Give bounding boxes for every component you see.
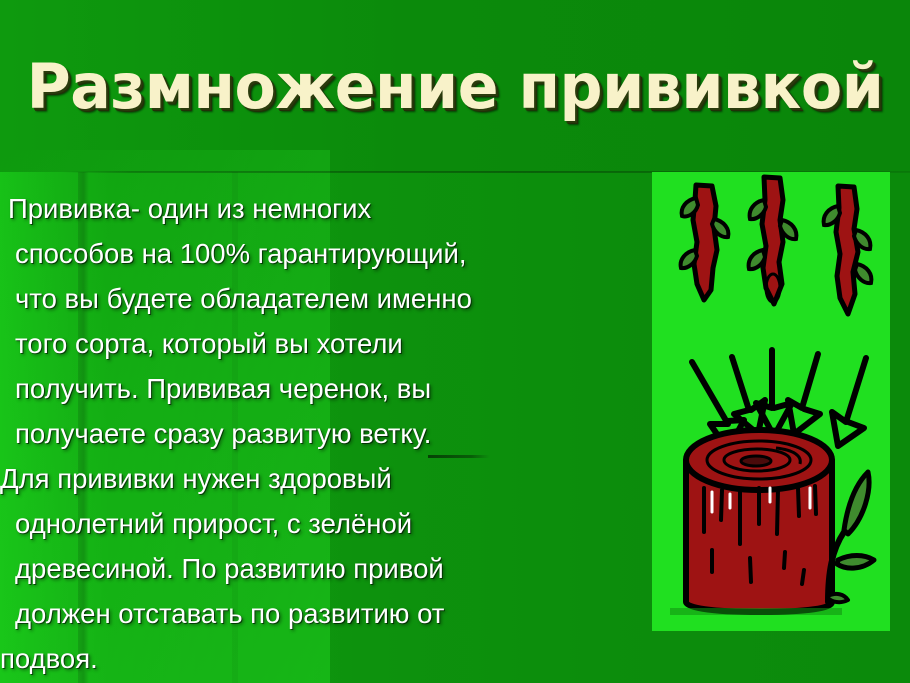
rootstock-stump <box>686 430 832 612</box>
body-line: древесиной. По развитию привой <box>0 546 640 591</box>
body-line: однолетний прирост, с зелёной <box>0 501 640 546</box>
body-line: Для прививки нужен здоровый <box>0 456 640 501</box>
body-line: что вы будете обладателем именно <box>0 276 640 321</box>
body-line: подвоя. <box>0 636 640 681</box>
slide: Размножение прививкой Прививка- один из … <box>0 0 910 683</box>
grafting-illustration <box>652 172 890 631</box>
page-title: Размножение прививкой <box>14 52 897 122</box>
grafting-illustration-svg <box>652 172 890 631</box>
body-line: получаете сразу развитую ветку. <box>0 411 640 456</box>
body-line: получить. Прививая черенок, вы <box>0 366 640 411</box>
body-text: Прививка- один из немногих способов на 1… <box>0 186 640 681</box>
body-line: должен отставать по развитию от <box>0 591 640 636</box>
body-line: способов на 100% гарантирующий, <box>0 231 640 276</box>
ground-shadow <box>670 608 842 615</box>
leaf-icon <box>828 594 848 602</box>
leaf-icon <box>837 556 874 569</box>
body-line: Прививка- один из немногих <box>0 186 640 231</box>
body-line: того сорта, который вы хотели <box>0 321 640 366</box>
